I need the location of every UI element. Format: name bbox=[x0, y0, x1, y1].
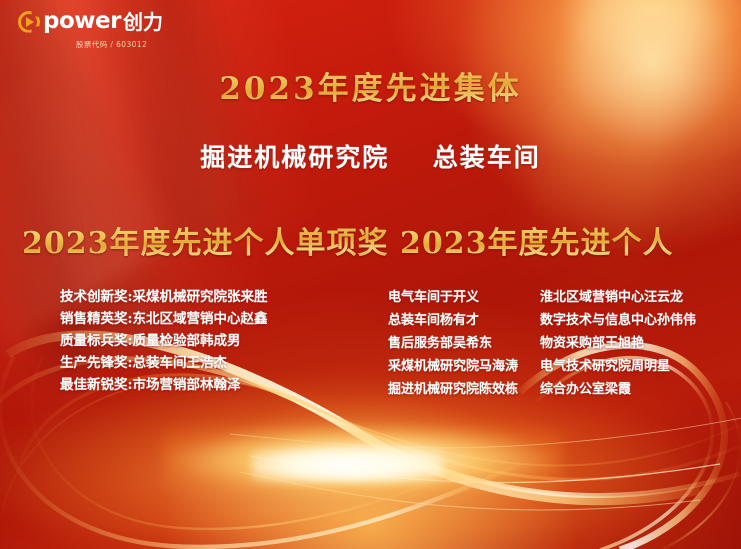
list-item: 生产先锋奖:总装车间王浩杰 bbox=[60, 352, 310, 374]
logo-row: power 创力 bbox=[18, 10, 163, 33]
section-header-advanced-individuals: 2023年度先进个人 bbox=[400, 218, 674, 262]
winner-name: 淮北区域营销中心汪云龙 bbox=[540, 286, 718, 309]
winner-name: 物资采购部王旭艳 bbox=[540, 332, 718, 355]
winner-name: 综合办公室梁霞 bbox=[540, 378, 718, 401]
winner-name: 总装车间杨有才 bbox=[388, 309, 540, 332]
individual-awards-list: 技术创新奖:采煤机械研究院张来胜 销售精英奖:东北区域营销中心赵鑫 质量标兵奖:… bbox=[60, 286, 310, 396]
winner-name: 电气技术研究院周明星 bbox=[540, 355, 718, 378]
company-logo: power 创力 股票代码 / 603012 bbox=[18, 10, 163, 50]
list-item: 最佳新锐奖:市场营销部林翰泽 bbox=[60, 374, 310, 396]
collective-winner-1: 掘进机械研究院 bbox=[200, 143, 389, 172]
winner-name: 电气车间于开义 bbox=[388, 286, 540, 309]
winner-name: 掘进机械研究院陈效栋 bbox=[388, 378, 540, 401]
logo-wordmark-cn: 创力 bbox=[123, 12, 163, 32]
list-item: 采煤机械研究院马海涛 电气技术研究院周明星 bbox=[388, 355, 718, 378]
winner-name: 售后服务部吴希东 bbox=[388, 332, 540, 355]
collective-winner-2: 总装车间 bbox=[433, 143, 541, 172]
advanced-individuals-list: 电气车间于开义 淮北区域营销中心汪云龙 总装车间杨有才 数字技术与信息中心孙伟伟… bbox=[388, 286, 718, 401]
list-item: 质量标兵奖:质量检验部韩成男 bbox=[60, 330, 310, 352]
award-poster: power 创力 股票代码 / 603012 2023年度先进集体 掘进机械研究… bbox=[0, 0, 741, 549]
stock-code-label: 股票代码 / 603012 bbox=[76, 39, 147, 50]
page-title: 2023年度先进集体 bbox=[0, 63, 741, 108]
winner-name: 数字技术与信息中心孙伟伟 bbox=[540, 309, 718, 332]
list-item: 销售精英奖:东北区域营销中心赵鑫 bbox=[60, 308, 310, 330]
power-c-arrow-icon bbox=[18, 11, 40, 33]
list-item: 售后服务部吴希东 物资采购部王旭艳 bbox=[388, 332, 718, 355]
logo-wordmark: power bbox=[43, 10, 121, 33]
winner-name: 采煤机械研究院马海涛 bbox=[388, 355, 540, 378]
list-item: 电气车间于开义 淮北区域营销中心汪云龙 bbox=[388, 286, 718, 309]
section-header-individual-awards: 2023年度先进个人单项奖 bbox=[22, 218, 389, 262]
swoosh-core-highlight bbox=[252, 449, 442, 483]
list-item: 掘进机械研究院陈效栋 综合办公室梁霞 bbox=[388, 378, 718, 401]
collective-winners: 掘进机械研究院 总装车间 bbox=[0, 138, 741, 174]
list-item: 技术创新奖:采煤机械研究院张来胜 bbox=[60, 286, 310, 308]
list-item: 总装车间杨有才 数字技术与信息中心孙伟伟 bbox=[388, 309, 718, 332]
